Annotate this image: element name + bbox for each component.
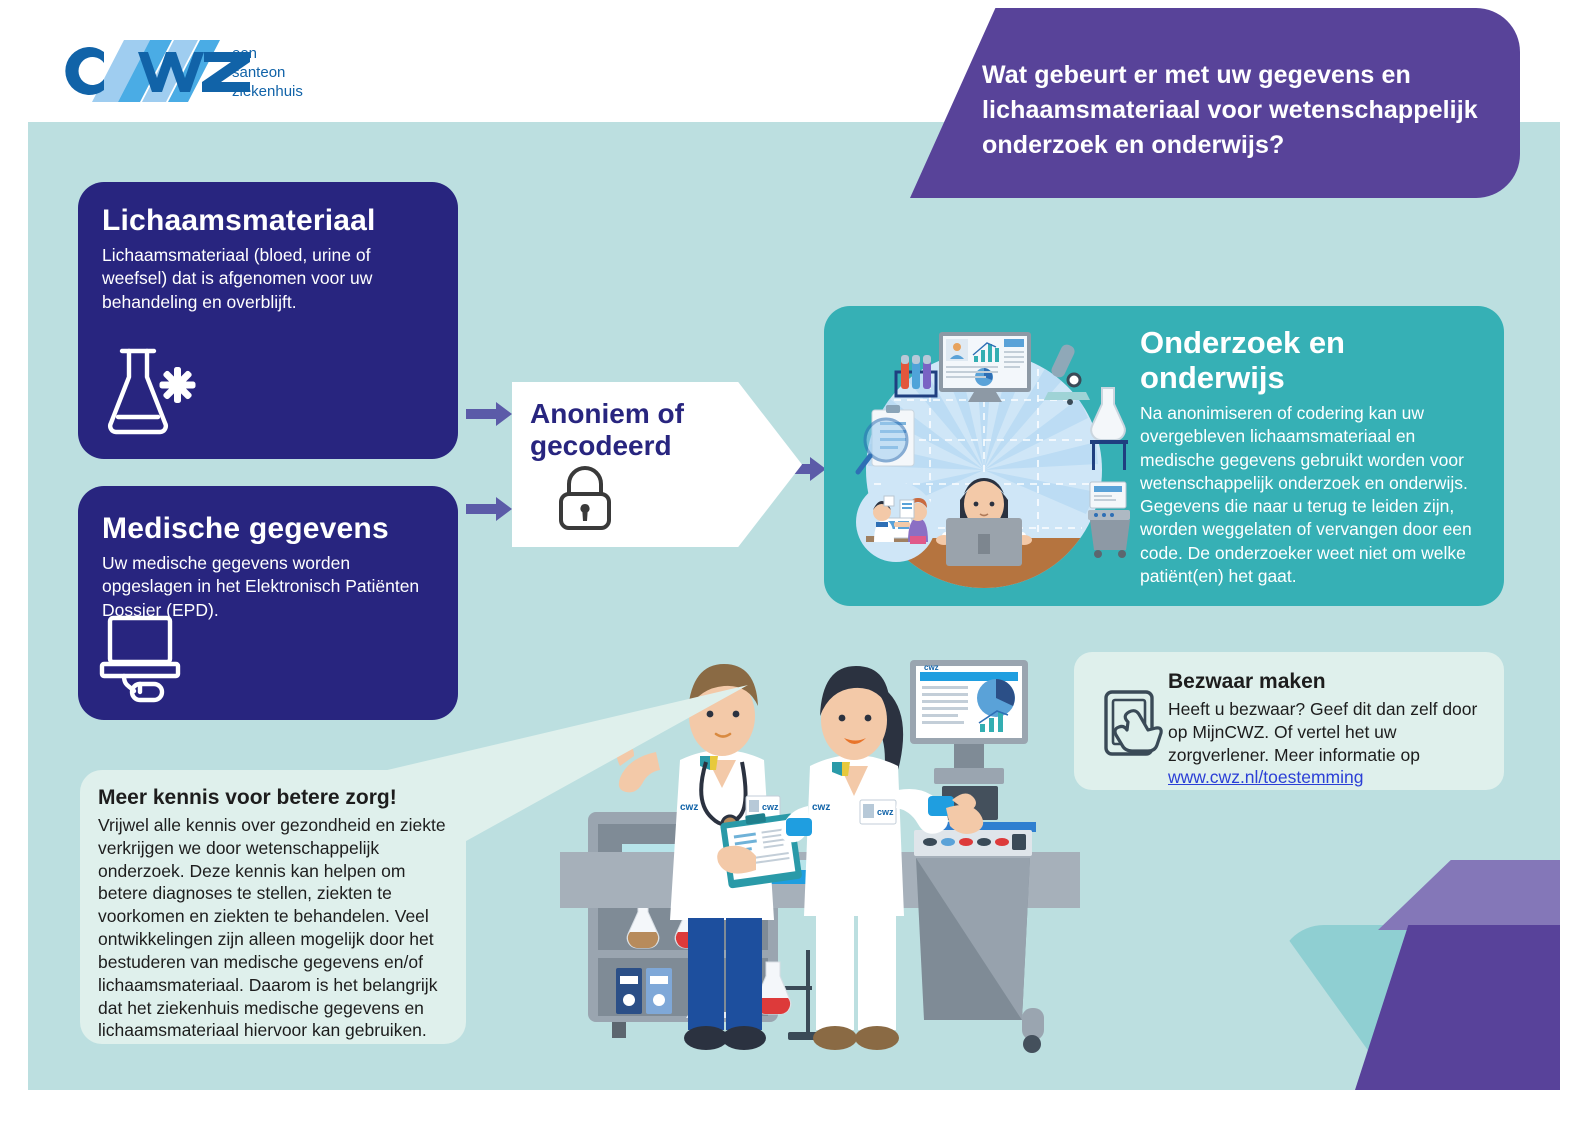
- page-title-line2: lichaamsmateriaal voor wetenschappelijk: [982, 93, 1502, 128]
- svg-text:cwz: cwz: [877, 807, 894, 817]
- card-material-body: Lichaamsmateriaal (bloed, urine of weefs…: [102, 244, 436, 314]
- tablet-hand-tap-icon: [1102, 688, 1164, 765]
- svg-text:cwz: cwz: [924, 663, 939, 672]
- badge-line2: gecodeerd: [530, 430, 740, 462]
- research-body: Na anonimiseren of codering kan uw overg…: [1140, 402, 1480, 588]
- padlock-icon: [554, 466, 616, 537]
- header-banner: Wat gebeurt er met uw gegevens en lichaa…: [910, 8, 1520, 198]
- infographic-page: een santeon ziekenhuis een santeon zieke…: [0, 0, 1588, 1123]
- research-title-line1: Onderzoek en: [1140, 325, 1345, 360]
- page-title-line3: onderzoek en onderwijs?: [982, 128, 1502, 163]
- svg-text:cwz: cwz: [680, 802, 698, 813]
- knowledge-body: Vrijwel alle kennis over gezondheid en z…: [98, 814, 450, 1042]
- card-material-title: Lichaamsmateriaal: [102, 204, 436, 238]
- cwz-logo: een santeon ziekenhuis: [46, 30, 306, 110]
- objection-title: Bezwaar maken: [1168, 670, 1326, 694]
- svg-text:een: een: [232, 45, 257, 62]
- card-medical-title: Medische gegevens: [102, 512, 436, 546]
- research-title: Onderzoek en onderwijs: [1140, 326, 1470, 395]
- badge-line1: Anoniem of: [530, 398, 740, 430]
- objection-body: Heeft u bezwaar? Geef dit dan zelf door …: [1168, 698, 1488, 789]
- panel-onderzoek-en-onderwijs: Onderzoek en onderwijs Na anonimiseren o…: [824, 306, 1504, 606]
- svg-text:cwz: cwz: [762, 802, 779, 812]
- research-title-line2: onderwijs: [1140, 360, 1285, 395]
- svg-text:santeon: santeon: [232, 64, 285, 81]
- svg-text:cwz: cwz: [812, 802, 830, 813]
- two-healthcare-workers-illustration: cwz: [560, 620, 1080, 1070]
- arrow-right-icon-bottom: [466, 495, 514, 528]
- flask-icon: [102, 345, 212, 442]
- objection-body-text: Heeft u bezwaar? Geef dit dan zelf door …: [1168, 699, 1477, 765]
- researcher-at-computer-illustration: [834, 322, 1134, 598]
- svg-text:ziekenhuis: ziekenhuis: [232, 83, 303, 100]
- arrow-right-icon-top: [466, 400, 514, 433]
- objection-link[interactable]: www.cwz.nl/toestemming: [1168, 767, 1363, 787]
- knowledge-title: Meer kennis voor betere zorg!: [98, 786, 397, 810]
- box-bezwaar-maken: Bezwaar maken Heeft u bezwaar? Geef dit …: [1074, 652, 1504, 790]
- laptop-mouse-icon: [96, 612, 206, 709]
- box-meer-kennis: Meer kennis voor betere zorg! Vrijwel al…: [80, 770, 466, 1044]
- page-title-line1: Wat gebeurt er met uw gegevens en: [982, 58, 1502, 93]
